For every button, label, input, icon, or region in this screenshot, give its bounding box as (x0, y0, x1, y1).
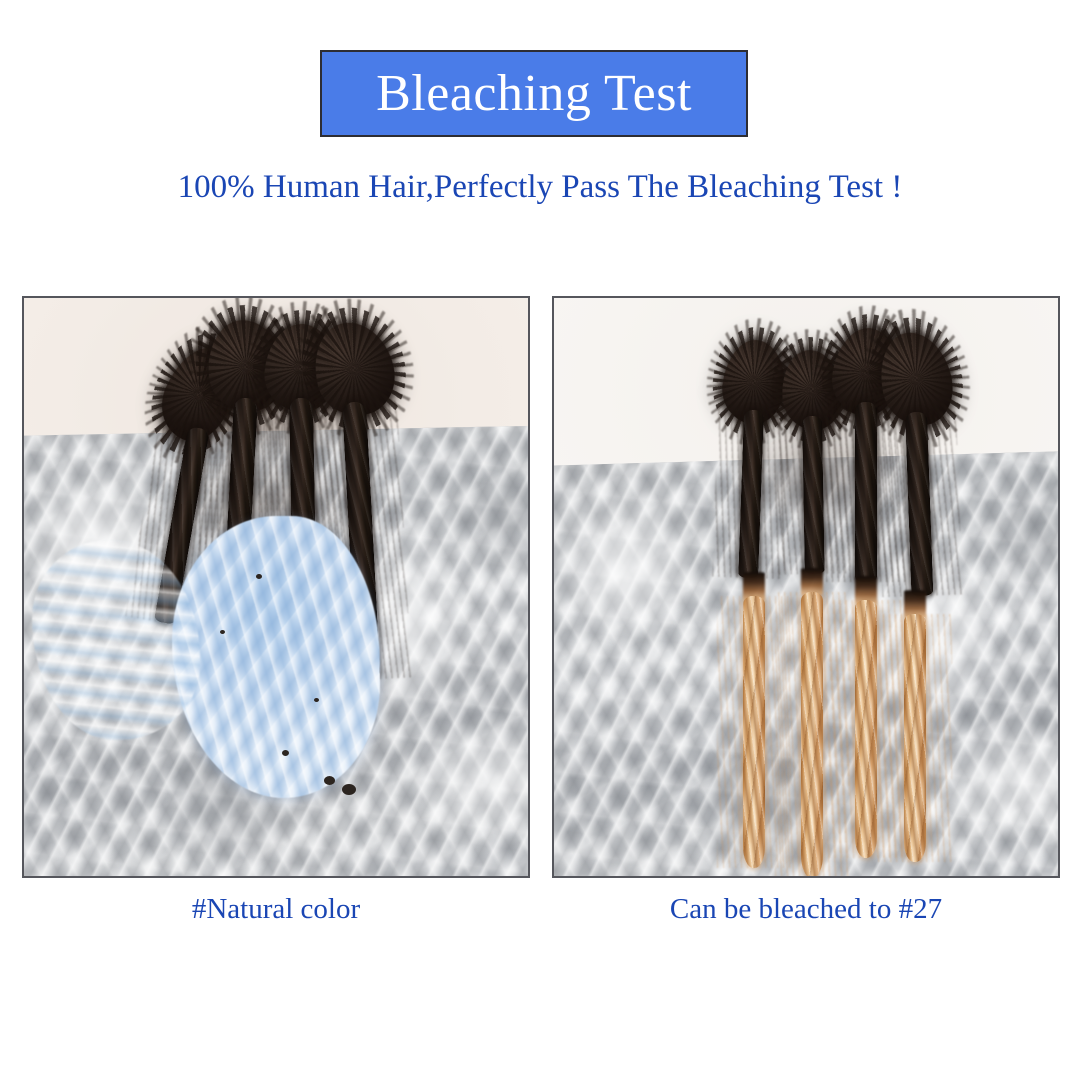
photo-natural-color (24, 298, 528, 876)
bleach-debris-fleck (324, 776, 335, 785)
loc-bleached-length (904, 614, 926, 862)
bleach-debris-fleck (342, 784, 356, 795)
caption-natural-color: #Natural color (22, 895, 530, 924)
comparison-panels (0, 296, 1080, 880)
panel-natural-color (22, 296, 530, 878)
loc-bleached-length (743, 596, 765, 868)
panel-bleached-27 (552, 296, 1060, 878)
bleach-debris-fleck (282, 750, 289, 756)
loc-shaft (802, 416, 825, 574)
loc-shaft (855, 402, 877, 582)
bleach-debris-fleck (314, 698, 319, 702)
bleach-debris-fleck (256, 574, 262, 579)
bleach-debris-fleck (220, 630, 225, 634)
title-banner: Bleaching Test (320, 50, 748, 137)
page-title: Bleaching Test (376, 68, 692, 120)
photo-bleached-27 (554, 298, 1058, 876)
subtitle-text: 100% Human Hair,Perfectly Pass The Bleac… (0, 168, 1080, 208)
loc-bleached-length (855, 600, 877, 858)
loc-bleached-length (801, 592, 823, 876)
caption-bleached-27: Can be bleached to #27 (552, 895, 1060, 924)
